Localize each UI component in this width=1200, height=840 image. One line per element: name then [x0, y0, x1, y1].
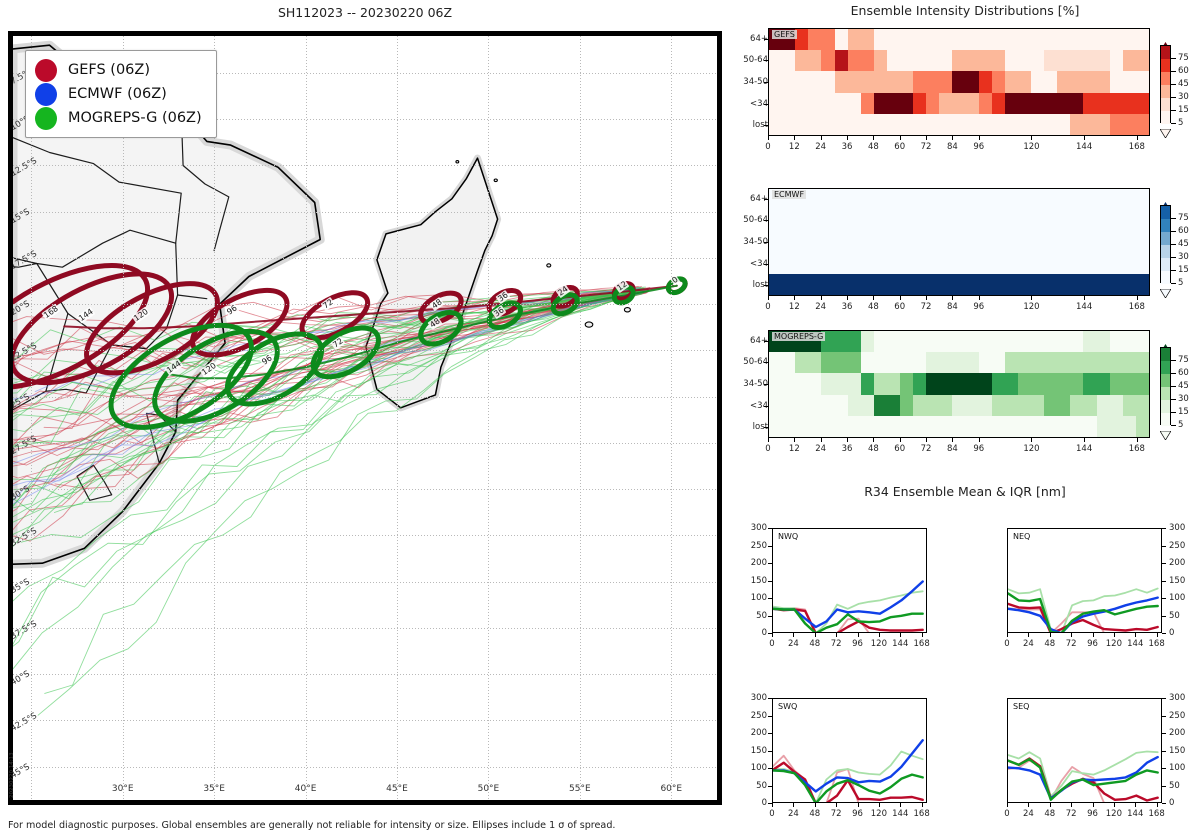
- legend-label: MOGREPS-G (06Z): [68, 110, 202, 126]
- heatmap-cell: [939, 395, 952, 416]
- heatmap-cell: [848, 189, 861, 210]
- heatmap-cell: [848, 50, 861, 71]
- heatmap-cell: [887, 231, 900, 252]
- model-legend: GEFS (06Z)ECMWF (06Z)MOGREPS-G (06Z): [25, 50, 217, 138]
- heatmap-x-tick: [794, 136, 795, 140]
- map-longitude-gridline: [397, 36, 398, 800]
- heatmap-cell: [966, 352, 979, 373]
- quadrant-y-tick: [1162, 786, 1166, 787]
- heatmap-cell: [952, 253, 965, 274]
- heatmap-x-tick: [952, 136, 953, 140]
- colorbar-max-arrow: [1160, 338, 1171, 347]
- quadrant-x-label: 72: [831, 639, 842, 649]
- legend-color-dot: [35, 107, 57, 130]
- quadrant-y-label: 300: [1169, 693, 1185, 703]
- heatmap-cell: [1083, 29, 1096, 50]
- quadrant-tag: SWQ: [778, 702, 797, 711]
- heatmap-x-tick: [768, 438, 769, 442]
- heatmap-cell: [1031, 352, 1044, 373]
- quadrant-y-label: 200: [1169, 728, 1185, 738]
- quadrant-y-tick: [768, 581, 772, 582]
- heatmap-cell: [1110, 274, 1123, 295]
- heatmap-cell: [1110, 395, 1123, 416]
- heatmap-cell: [835, 395, 848, 416]
- heatmap-cell: [1031, 395, 1044, 416]
- heatmap-plot-area[interactable]: GEFS: [768, 28, 1150, 136]
- heatmap-cell: [992, 29, 1005, 50]
- heatmap-cell: [1044, 50, 1057, 71]
- heatmap-cell: [769, 352, 782, 373]
- map-lon-tick-label: 40°E: [295, 784, 317, 794]
- heatmap-cell: [1005, 231, 1018, 252]
- heatmap-x-tick: [768, 296, 769, 300]
- r34-section-title: R34 Ensemble Mean & IQR [nm]: [730, 484, 1200, 499]
- heatmap-y-tick: [764, 104, 768, 105]
- generation-timestamp: 20230220 14:13: [9, 752, 15, 798]
- heatmap-cell: [887, 210, 900, 231]
- heatmap-y-tick: [764, 406, 768, 407]
- colorbar-segment: [1161, 59, 1170, 72]
- map-lon-tick-label: 55°E: [569, 784, 591, 794]
- heatmap-cell: [952, 50, 965, 71]
- heatmap-cell: [1044, 189, 1057, 210]
- map-canvas[interactable]: 7.5°S10°S12.5°S15°S17.5°S20°S22.5°S25°S2…: [13, 36, 717, 800]
- heatmap-x-tick: [873, 438, 874, 442]
- map-latitude-gridline: [13, 397, 717, 398]
- heatmap-x-label: 12: [789, 302, 800, 312]
- heatmap-cell: [966, 416, 979, 437]
- heatmap-section-title: Ensemble Intensity Distributions [%]: [730, 3, 1200, 18]
- quadrant-x-tick: [1093, 803, 1094, 807]
- quadrant-x-tick: [879, 633, 880, 637]
- heatmap-cell: [1044, 274, 1057, 295]
- heatmap-cell: [1018, 373, 1031, 394]
- quadrant-series-graphics: [773, 699, 927, 803]
- heatmap-cell: [1057, 352, 1070, 373]
- heatmap-cell: [952, 395, 965, 416]
- heatmap-cell: [835, 50, 848, 71]
- quadrant-plot-area[interactable]: SWQ: [772, 698, 927, 803]
- heatmap-cell: [992, 231, 1005, 252]
- heatmap-cell: [979, 71, 992, 92]
- heatmap-cell: [966, 395, 979, 416]
- heatmap-cell: [887, 29, 900, 50]
- colorbar-tick: [1171, 71, 1176, 72]
- heatmap-x-label: 48: [868, 444, 879, 454]
- heatmap-cell: [1097, 210, 1110, 231]
- colorbar-tick: [1171, 373, 1176, 374]
- heatmap-plot-area[interactable]: ECMWF: [768, 188, 1150, 296]
- heatmap-cell: [835, 93, 848, 114]
- colorbar-min-arrow: [1160, 283, 1171, 292]
- heatmap-cell: [966, 253, 979, 274]
- colorbar-label: 45: [1178, 239, 1189, 249]
- heatmap-cell: [913, 189, 926, 210]
- heatmap-x-label: 60: [894, 444, 905, 454]
- heatmap-cell: [1031, 210, 1044, 231]
- heatmap-cell: [835, 114, 848, 135]
- quadrant-y-label: 100: [738, 593, 767, 603]
- heatmap-cell: [1083, 50, 1096, 71]
- colorbar-label: 15: [1178, 105, 1189, 115]
- heatmap-cell: [900, 189, 913, 210]
- heatmap-cell: [1018, 71, 1031, 92]
- heatmap-x-tick: [821, 438, 822, 442]
- heatmap-cell: [1031, 50, 1044, 71]
- heatmap-x-label: 168: [1129, 142, 1145, 152]
- heatmap-cell: [1070, 93, 1083, 114]
- heatmap-cell: [848, 416, 861, 437]
- heatmap-x-tick: [979, 136, 980, 140]
- quadrant-x-label: 120: [1106, 639, 1122, 649]
- quadrant-x-tick: [793, 803, 794, 807]
- heatmap-cell: [913, 352, 926, 373]
- colorbar-segment: [1161, 245, 1170, 258]
- map-latitude-gridline: [13, 720, 717, 721]
- map-lon-tick-label: 60°E: [660, 784, 682, 794]
- quadrant-y-label: 200: [738, 728, 767, 738]
- heatmap-cell: [1136, 210, 1149, 231]
- heatmap-cell: [835, 231, 848, 252]
- heatmap-cell: [1018, 210, 1031, 231]
- heatmap-cell: [1044, 331, 1057, 352]
- heatmap-cell: [874, 373, 887, 394]
- heatmap-cell: [979, 29, 992, 50]
- quadrant-x-tick: [1050, 803, 1051, 807]
- heatmap-cell: [1136, 231, 1149, 252]
- heatmap-cell: [1005, 274, 1018, 295]
- quadrant-x-label: 120: [871, 809, 887, 819]
- heatmap-cell: [939, 416, 952, 437]
- quadrant-y-tick: [768, 768, 772, 769]
- colorbar-segment: [1161, 72, 1170, 85]
- heatmap-cell: [939, 93, 952, 114]
- legend-label: ECMWF (06Z): [68, 86, 167, 102]
- heatmap-cell: [1005, 50, 1018, 71]
- colorbar-tick: [1171, 412, 1176, 413]
- map-longitude-gridline: [306, 36, 307, 800]
- heatmap-cell: [795, 416, 808, 437]
- heatmap-cell: [782, 210, 795, 231]
- r34-quadrant-swq[interactable]: SWQ050100150200250300024487296120144168: [730, 690, 965, 840]
- heatmap-model-tag: ECMWF: [772, 190, 806, 199]
- colorbar-label: 5: [1178, 420, 1183, 430]
- heatmap-cell: [1123, 274, 1136, 295]
- heatmap-cell: [979, 274, 992, 295]
- heatmap-cell: [861, 231, 874, 252]
- heatmap-x-tick: [952, 296, 953, 300]
- heatmap-cell: [887, 373, 900, 394]
- heatmap-cell: [1044, 253, 1057, 274]
- heatmap-cell: [1057, 373, 1070, 394]
- colorbar-tick: [1171, 257, 1176, 258]
- quadrant-y-label: 150: [1169, 746, 1185, 756]
- heatmap-cell: [821, 50, 834, 71]
- quadrant-x-label: 0: [769, 639, 774, 649]
- quadrant-y-label: 250: [738, 541, 767, 551]
- colorbar-label: 60: [1178, 368, 1189, 378]
- heatmap-x-label: 84: [947, 142, 958, 152]
- colorbar-tick: [1171, 425, 1176, 426]
- colorbar-segment: [1161, 98, 1170, 111]
- quadrant-y-label: 0: [738, 628, 767, 638]
- heatmap-cell: [782, 352, 795, 373]
- r34-quadrant-neq[interactable]: NEQ050100150200250300024487296120144168: [965, 520, 1200, 670]
- heatmap-cell: [1031, 114, 1044, 135]
- forecast-track-map[interactable]: 7.5°S10°S12.5°S15°S17.5°S20°S22.5°S25°S2…: [8, 31, 722, 805]
- colorbar-tick: [1171, 231, 1176, 232]
- heatmap-cell: [1123, 29, 1136, 50]
- heatmap-cell: [1097, 189, 1110, 210]
- heatmap-cell: [1031, 71, 1044, 92]
- heatmap-cell: [861, 210, 874, 231]
- heatmap-x-tick: [1137, 296, 1138, 300]
- heatmap-cell: [1083, 274, 1096, 295]
- heatmap-cell: [1044, 395, 1057, 416]
- heatmap-cell: [1083, 331, 1096, 352]
- heatmap-cell: [1110, 253, 1123, 274]
- heatmap-cell: [1083, 210, 1096, 231]
- heatmap-cell: [900, 416, 913, 437]
- heatmap-cell: [1005, 352, 1018, 373]
- heatmap-cell: [913, 71, 926, 92]
- colorbar-min-arrow: [1160, 123, 1171, 132]
- heatmap-colorbar: 51530456075: [1160, 338, 1200, 448]
- map-longitude-gridline: [214, 36, 215, 800]
- heatmap-cell: [1005, 395, 1018, 416]
- heatmap-cell: [926, 210, 939, 231]
- heatmap-cell: [1097, 29, 1110, 50]
- heatmap-x-label: 24: [815, 302, 826, 312]
- colorbar-label: 75: [1178, 53, 1189, 63]
- heatmap-cell: [795, 114, 808, 135]
- quadrant-x-tick: [1135, 803, 1136, 807]
- quadrant-y-tick: [768, 786, 772, 787]
- heatmap-cell: [1057, 50, 1070, 71]
- quadrant-y-label: 300: [738, 523, 767, 533]
- heatmap-cell: [887, 416, 900, 437]
- heatmap-x-label: 12: [789, 142, 800, 152]
- quadrant-x-label: 72: [1066, 639, 1077, 649]
- heatmap-cell: [926, 50, 939, 71]
- heatmap-cell: [1123, 114, 1136, 135]
- heatmap-cell: [1097, 253, 1110, 274]
- heatmap-cell: [848, 93, 861, 114]
- heatmap-cell: [992, 93, 1005, 114]
- map-longitude-gridline: [580, 36, 581, 800]
- r34-quadrant-nwq[interactable]: NWQ050100150200250300024487296120144168: [730, 520, 965, 670]
- heatmap-cell: [952, 352, 965, 373]
- map-latitude-gridline: [13, 767, 717, 768]
- heatmap-cell: [1110, 50, 1123, 71]
- colorbar-label: 15: [1178, 407, 1189, 417]
- heatmap-cell: [913, 231, 926, 252]
- quadrant-y-label: 50: [1169, 611, 1180, 621]
- heatmap-cell: [1070, 253, 1083, 274]
- map-latitude-gridline: [13, 258, 717, 259]
- heatmap-cell: [848, 29, 861, 50]
- colorbar-tick: [1171, 283, 1176, 284]
- heatmap-cell: [1044, 210, 1057, 231]
- heatmap-cell: [1097, 352, 1110, 373]
- heatmap-x-tick: [979, 438, 980, 442]
- heatmap-cell: [861, 331, 874, 352]
- quadrant-x-label: 24: [1023, 639, 1034, 649]
- heatmap-cell: [1136, 189, 1149, 210]
- heatmap-cell: [1005, 93, 1018, 114]
- heatmap-cell: [848, 114, 861, 135]
- heatmap-cell: [939, 331, 952, 352]
- heatmap-cell: [1018, 29, 1031, 50]
- heatmap-y-tick: [764, 39, 768, 40]
- heatmap-plot-area[interactable]: MOGREPS-G: [768, 330, 1150, 438]
- heatmap-cell: [1018, 114, 1031, 135]
- quadrant-tag: NWQ: [778, 532, 798, 541]
- quadrant-x-tick: [1093, 633, 1094, 637]
- heatmap-cell: [795, 231, 808, 252]
- heatmap-cell: [782, 253, 795, 274]
- quadrant-y-label: 100: [1169, 763, 1185, 773]
- heatmap-cell: [795, 352, 808, 373]
- heatmap-cell: [1136, 29, 1149, 50]
- heatmap-cell: [1083, 189, 1096, 210]
- heatmap-cell: [1123, 395, 1136, 416]
- heatmap-cell: [926, 352, 939, 373]
- map-latitude-gridline: [13, 350, 717, 351]
- heatmap-x-label: 48: [868, 142, 879, 152]
- heatmap-cell: [952, 29, 965, 50]
- r34-quadrant-seq[interactable]: SEQ050100150200250300024487296120144168: [965, 690, 1200, 840]
- heatmap-cell: [1005, 331, 1018, 352]
- heatmap-cell: [821, 352, 834, 373]
- heatmap-cell: [952, 231, 965, 252]
- quadrant-plot-area[interactable]: SEQ: [1007, 698, 1162, 803]
- heatmap-cell: [887, 114, 900, 135]
- quadrant-y-label: 0: [1169, 798, 1174, 808]
- heatmap-cell: [874, 416, 887, 437]
- heatmap-cell: [835, 274, 848, 295]
- heatmap-cell: [1044, 416, 1057, 437]
- quadrant-series-graphics: [773, 529, 927, 633]
- intensity-heatmap-ecmwf[interactable]: ECMWF64+50-6434-50<34lost012243648607284…: [730, 188, 1200, 338]
- heatmap-cell: [992, 114, 1005, 135]
- heatmap-cell: [1123, 189, 1136, 210]
- heatmap-cell: [1136, 373, 1149, 394]
- heatmap-cell: [1005, 29, 1018, 50]
- quadrant-plot-area[interactable]: NWQ: [772, 528, 927, 633]
- legend-item: MOGREPS-G (06Z): [35, 106, 202, 130]
- quadrant-x-label: 120: [871, 639, 887, 649]
- quadrant-x-tick: [836, 633, 837, 637]
- quadrant-plot-area[interactable]: NEQ: [1007, 528, 1162, 633]
- heatmap-cell: [1031, 231, 1044, 252]
- heatmap-cell: [1031, 189, 1044, 210]
- heatmap-x-tick: [1084, 438, 1085, 442]
- quadrant-y-tick: [768, 698, 772, 699]
- heatmap-cell: [887, 253, 900, 274]
- heatmap-cell: [1044, 71, 1057, 92]
- heatmap-cell: [1097, 416, 1110, 437]
- heatmap-cell: [1031, 93, 1044, 114]
- heatmap-cell: [782, 395, 795, 416]
- colorbar-tick: [1171, 218, 1176, 219]
- quadrant-x-label: 144: [892, 809, 908, 819]
- quadrant-x-label: 72: [1066, 809, 1077, 819]
- colorbar-segment: [1161, 258, 1170, 271]
- heatmap-cell: [874, 210, 887, 231]
- heatmap-cell: [1097, 373, 1110, 394]
- heatmap-cell: [939, 50, 952, 71]
- colorbar-label: 5: [1178, 118, 1183, 128]
- heatmap-cell: [913, 93, 926, 114]
- heatmap-cell: [939, 231, 952, 252]
- colorbar-segment: [1161, 361, 1170, 374]
- colorbar-segment: [1161, 219, 1170, 232]
- heatmap-cell: [861, 395, 874, 416]
- legend-color-dot: [35, 83, 57, 106]
- heatmap-cell: [966, 373, 979, 394]
- quadrant-x-label: 24: [1023, 809, 1034, 819]
- heatmap-y-tick: [764, 285, 768, 286]
- intensity-heatmap-mogreps-g[interactable]: MOGREPS-G64+50-6434-50<34lost01224364860…: [730, 330, 1200, 480]
- heatmap-x-tick: [900, 136, 901, 140]
- heatmap-cell: [1097, 331, 1110, 352]
- quadrant-x-tick: [1007, 803, 1008, 807]
- heatmap-x-label: 24: [815, 142, 826, 152]
- colorbar-label: 15: [1178, 265, 1189, 275]
- colorbar-tick: [1171, 84, 1176, 85]
- disclaimer-note: For model diagnostic purposes. Global en…: [8, 820, 615, 831]
- heatmap-cell: [900, 331, 913, 352]
- quadrant-y-tick: [1162, 768, 1166, 769]
- heatmap-cell: [821, 395, 834, 416]
- heatmap-x-tick: [1137, 136, 1138, 140]
- map-latitude-gridline: [13, 535, 717, 536]
- heatmap-cell: [1070, 114, 1083, 135]
- intensity-heatmap-gefs[interactable]: GEFS64+50-6434-50<34lost0122436486072849…: [730, 28, 1200, 178]
- heatmap-cell: [939, 114, 952, 135]
- quadrant-x-label: 144: [1127, 809, 1143, 819]
- heatmap-cell: [808, 114, 821, 135]
- heatmap-cell: [835, 189, 848, 210]
- colorbar-tick: [1171, 399, 1176, 400]
- heatmap-cell: [808, 29, 821, 50]
- heatmap-cell: [1031, 253, 1044, 274]
- map-lon-tick-label: 45°E: [386, 784, 408, 794]
- heatmap-cell: [926, 331, 939, 352]
- heatmap-cell: [861, 373, 874, 394]
- quadrant-x-tick: [1050, 633, 1051, 637]
- quadrant-x-label: 168: [914, 639, 930, 649]
- heatmap-cell: [874, 253, 887, 274]
- heatmap-x-label: 144: [1076, 302, 1092, 312]
- map-latitude-gridline: [13, 489, 717, 490]
- heatmap-cell: [1097, 50, 1110, 71]
- heatmap-cell: [1110, 416, 1123, 437]
- heatmap-y-tick: [764, 82, 768, 83]
- heatmap-x-tick: [1137, 438, 1138, 442]
- heatmap-cell: [1123, 71, 1136, 92]
- colorbar-label: 60: [1178, 226, 1189, 236]
- quadrant-x-label: 0: [1004, 809, 1009, 819]
- quadrant-x-label: 48: [1044, 809, 1055, 819]
- heatmap-cell: [966, 114, 979, 135]
- heatmap-cell: [966, 29, 979, 50]
- heatmap-cell: [887, 71, 900, 92]
- heatmap-cell: [769, 231, 782, 252]
- heatmap-cell: [1136, 395, 1149, 416]
- heatmap-cell: [1136, 416, 1149, 437]
